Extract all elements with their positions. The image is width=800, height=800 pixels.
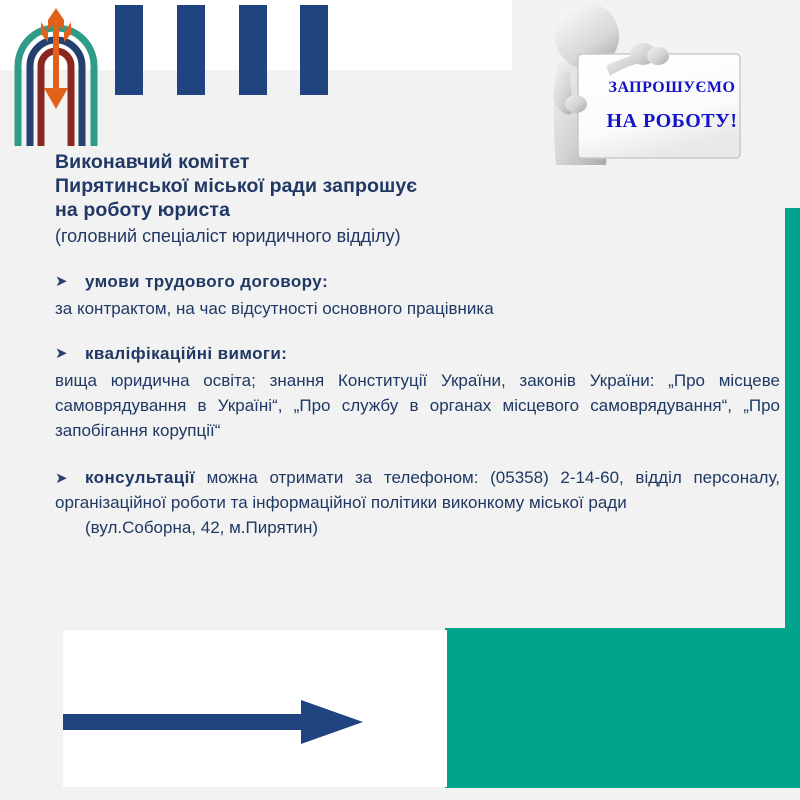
pyriatyn-arch-logo [8,4,104,150]
section-qualification-requirements: ➤ кваліфікаційні вимоги: вища юридична о… [55,343,780,443]
section-consultations: ➤консультації можна отримати за телефоно… [55,465,780,540]
poster-canvas: ЗАПРОШУЄМО НА РОБОТУ! Виконавчий комітет… [0,0,800,800]
decorative-bar-4 [300,5,328,95]
arrow-right-icon [63,700,373,750]
section-3-address: (вул.Соборна, 42, м.Пирятин) [55,515,780,540]
decorative-bar-1 [115,5,143,95]
headline-block: Виконавчий комітет Пирятинської міської … [55,150,780,222]
sign-line-2: НА РОБОТУ! [597,110,747,133]
decorative-bar-2 [177,5,205,95]
bullet-arrow-icon: ➤ [55,271,85,293]
bottom-teal-block [445,628,800,788]
headline-line-1: Виконавчий комітет [55,150,780,174]
section-3-heading: консультації [85,468,195,487]
section-2-body: вища юридична освіта; знання Конституції… [55,368,780,443]
section-3-paragraph: ➤консультації можна отримати за телефоно… [55,465,780,515]
section-2-heading: кваліфікаційні вимоги [85,343,281,365]
bullet-arrow-icon: ➤ [55,468,85,490]
poster-content: Виконавчий комітет Пирятинської міської … [55,150,780,540]
section-1-body: за контрактом, на час відсутності основн… [55,296,780,321]
right-teal-strip [785,208,800,650]
headline-line-2: Пирятинської міської ради запрошує [55,174,780,198]
bullet-arrow-icon: ➤ [55,343,85,365]
section-2-heading-colon: : [281,343,287,365]
headline-line-3: на роботу юриста [55,198,780,222]
section-contract-terms: ➤ умови трудового договору: за контракто… [55,271,780,321]
sub-headline: (головний спеціаліст юридичного відділу) [55,223,780,249]
section-1-heading: умови трудового договору [85,271,322,293]
decorative-bar-3 [239,5,267,95]
sign-line-1: ЗАПРОШУЄМО [597,79,747,97]
section-1-heading-colon: : [322,271,328,293]
